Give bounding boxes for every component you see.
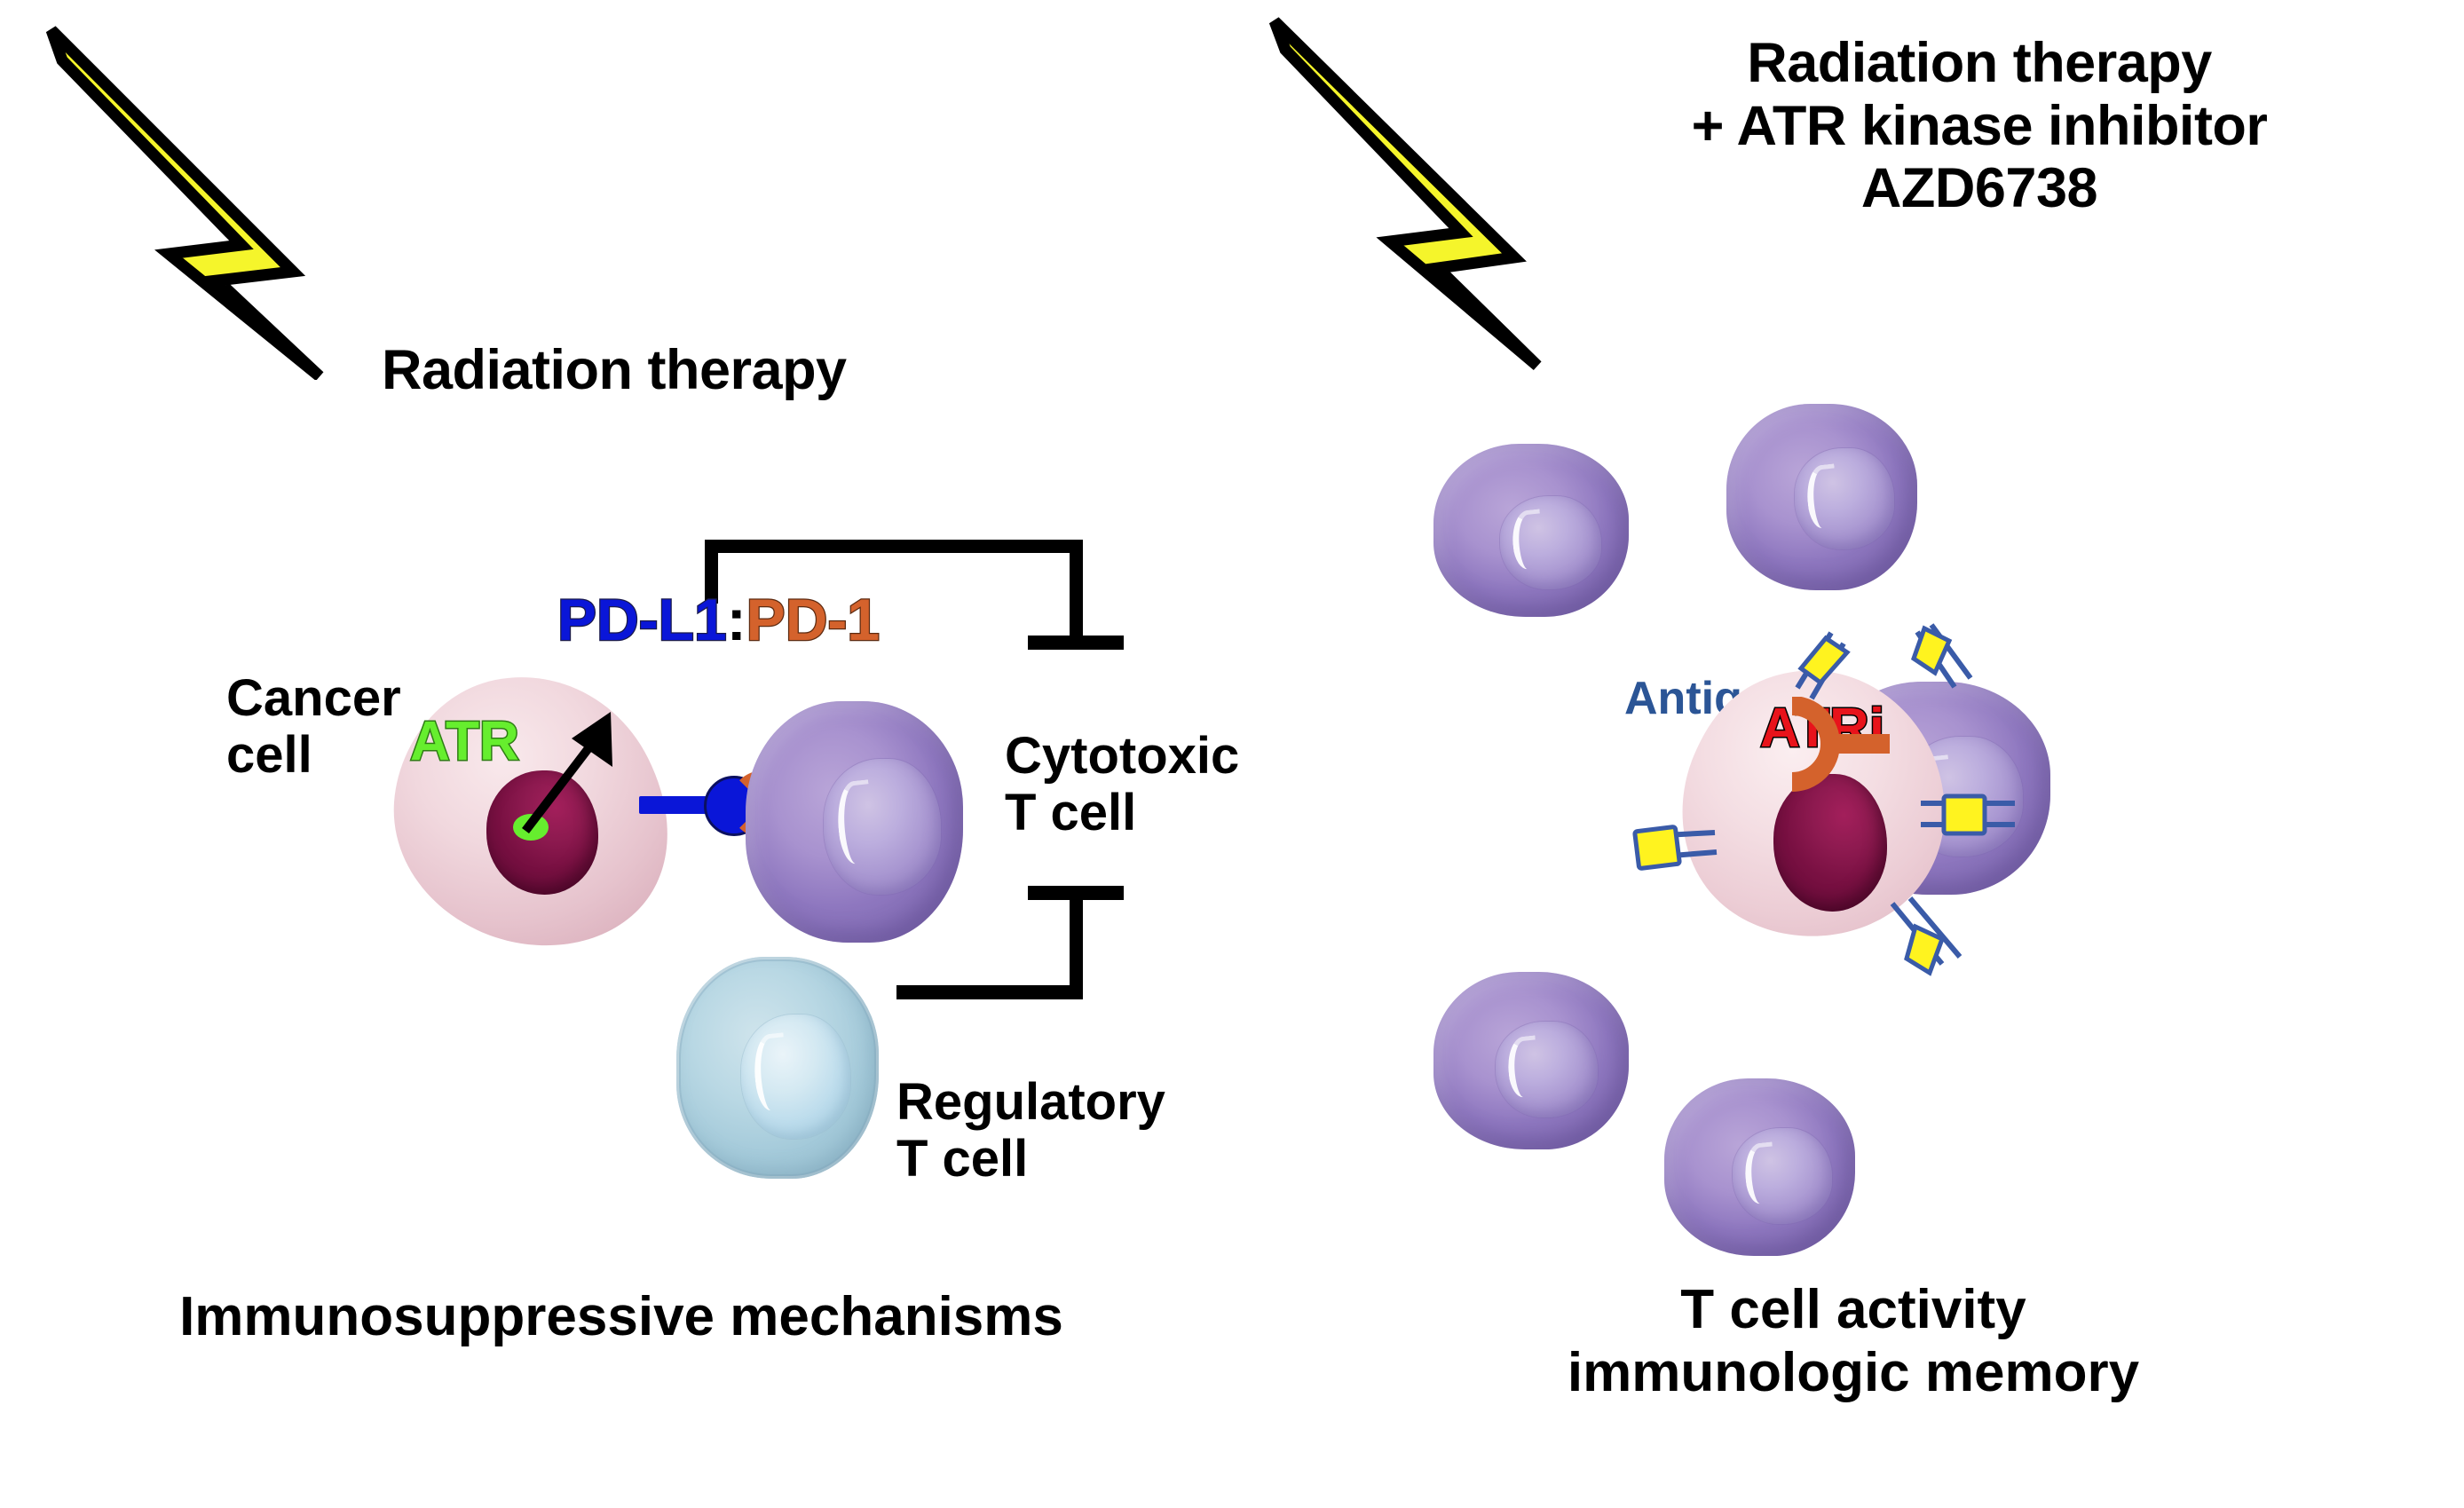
antigen-flag-left <box>1626 817 1724 888</box>
left-panel-caption: Immunosuppressive mechanisms <box>0 1285 1243 1348</box>
right-panel-caption-line-2: immunologic memory <box>1243 1341 2464 1404</box>
t-cell-top-left <box>1433 444 1629 617</box>
left-panel: Radiation therapy PD-L1 : PD-1 Cancer ce… <box>0 0 1243 1508</box>
t-cell-nucleus <box>1795 448 1894 549</box>
figure-canvas: Radiation therapy PD-L1 : PD-1 Cancer ce… <box>0 0 2464 1508</box>
atr-upregulation-arrow <box>508 699 632 841</box>
cancer-cell-label: Cancer cell <box>226 670 401 784</box>
t-cell-bottom-left <box>1433 972 1629 1149</box>
cytotoxic-t-cell <box>746 701 963 943</box>
right-panel-caption-line-1: T cell activity <box>1243 1278 2464 1341</box>
cancer-cell-nucleus <box>1773 774 1887 912</box>
antigen-flag-top-right <box>1899 621 1988 706</box>
antigen-flag-top-left <box>1771 626 1851 706</box>
regulatory-t-cell <box>676 957 879 1179</box>
left-panel-header: Radiation therapy <box>382 339 847 402</box>
cytotoxic-t-cell-nucleus <box>824 759 941 894</box>
regulatory-t-cell-nucleus <box>741 1015 850 1139</box>
nucleus-gloss-icon <box>833 779 876 865</box>
right-panel-header-line-1: Radiation therapy <box>1544 32 2414 95</box>
regulatory-t-cell-label: Regulatory T cell <box>896 1074 1165 1188</box>
t-cell-top-right <box>1726 404 1917 590</box>
t-cell-nucleus <box>1496 1022 1597 1117</box>
nucleus-gloss-icon <box>1741 1142 1778 1205</box>
nucleus-gloss-icon <box>1804 463 1840 529</box>
lightning-bolt-icon <box>36 25 337 380</box>
antigen-flag-bottom-right <box>1884 896 1981 985</box>
t-cell-bottom-right <box>1664 1078 1855 1256</box>
nucleus-gloss-icon <box>1505 1036 1542 1099</box>
right-panel: Radiation therapy + ATR kinase inhibitor… <box>1243 0 2464 1508</box>
pdl1-pd1-separator: : <box>727 586 746 653</box>
pdl1-pd1-label: PD-L1 : PD-1 <box>557 586 880 653</box>
atr-text: ATR <box>410 715 519 770</box>
cytotoxic-t-cell-label: Cytotoxic T cell <box>1005 728 1239 841</box>
antigen-flag-right <box>1917 786 2019 849</box>
t-cell-nucleus <box>1500 496 1601 589</box>
right-panel-header: Radiation therapy + ATR kinase inhibitor… <box>1544 32 2414 220</box>
right-panel-header-line-3: AZD6738 <box>1544 157 2414 220</box>
pd1-text: PD-1 <box>746 590 880 649</box>
pd1-receptor-icon <box>1780 697 1895 794</box>
right-panel-caption: T cell activity immunologic memory <box>1243 1278 2464 1405</box>
pdl1-text: PD-L1 <box>557 590 727 649</box>
lightning-bolt-icon <box>1260 16 1553 371</box>
nucleus-gloss-icon <box>1509 509 1545 571</box>
right-panel-header-line-2: + ATR kinase inhibitor <box>1544 95 2414 158</box>
nucleus-gloss-icon <box>750 1033 790 1113</box>
t-cell-nucleus <box>1733 1128 1832 1224</box>
